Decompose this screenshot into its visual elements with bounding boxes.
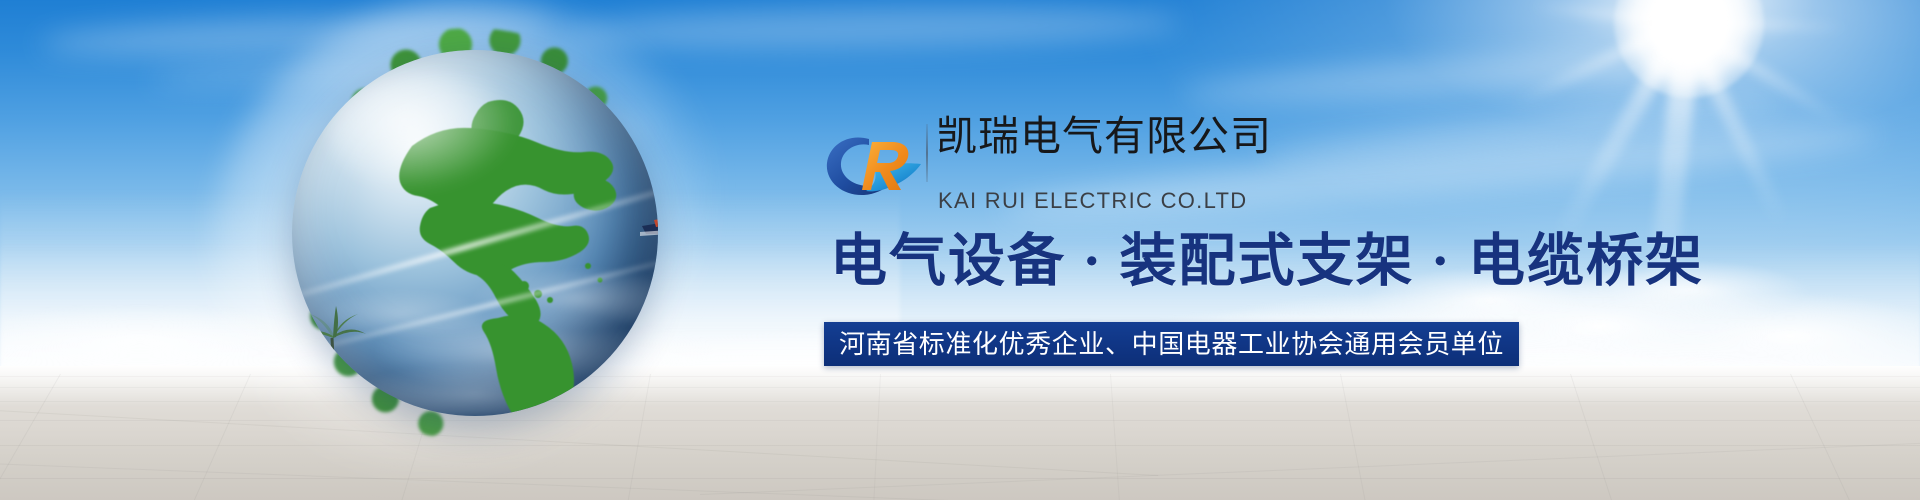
kairui-logo-icon	[822, 128, 926, 204]
certification-badge-label: 河南省标准化优秀企业、中国电器工业协会通用会员单位	[839, 331, 1504, 357]
company-name-en: KAI RUI ELECTRIC CO.LTD	[938, 190, 1247, 212]
green-earth-globe	[272, 36, 672, 436]
certification-badge: 河南省标准化优秀企业、中国电器工业协会通用会员单位	[824, 322, 1519, 366]
palm-tree-icon	[300, 300, 370, 380]
globe-sphere	[292, 50, 658, 416]
tile-seam	[0, 462, 1359, 500]
tile-line-h	[0, 445, 1920, 446]
tile-line-h	[0, 478, 1920, 479]
logo-text-divider	[926, 124, 928, 182]
boat-icon	[640, 208, 658, 238]
globe-specular-highlight	[328, 72, 518, 192]
hero-banner: 凯瑞电气有限公司 KAI RUI ELECTRIC CO.LTD 电气设备 · …	[0, 0, 1920, 500]
tile-seam	[700, 441, 1920, 495]
company-name-cn: 凯瑞电气有限公司	[936, 116, 1272, 157]
slogan-text: 电气设备 · 装配式支架 · 电缆桥架	[830, 228, 1704, 295]
